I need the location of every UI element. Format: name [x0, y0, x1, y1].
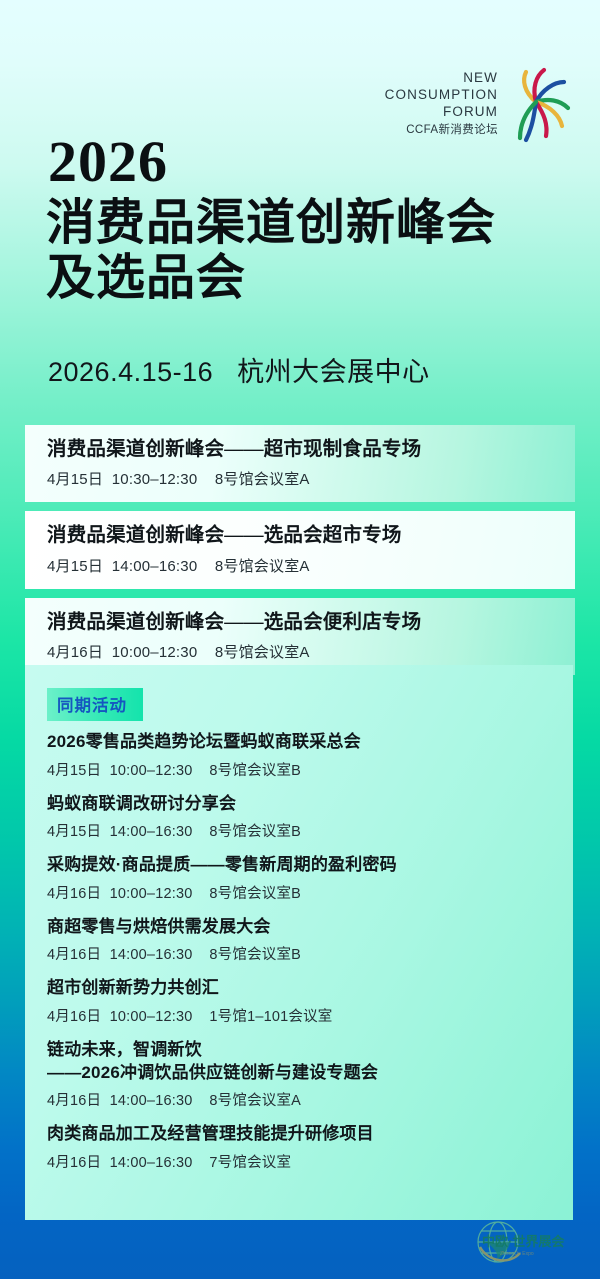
status-badge: 同期活动	[47, 688, 143, 721]
activity-meta: 4月16日 14:00–16:30 7号馆会议室	[47, 1151, 573, 1172]
session-card[interactable]: 消费品渠道创新峰会——选品会超市专场 4月15日 14:00–16:30 8号馆…	[25, 511, 575, 588]
activity-meta: 4月15日 10:00–12:30 8号馆会议室B	[47, 759, 573, 780]
activity-meta: 4月16日 10:00–12:30 8号馆会议室B	[47, 882, 573, 903]
session-card[interactable]: 消费品渠道创新峰会——选品会便利店专场 4月16日 10:00–12:30 8号…	[25, 598, 575, 675]
concurrent-activities-panel: 同期活动 2026零售品类趋势论坛暨蚂蚁商联采总会 4月15日 10:00–12…	[25, 665, 573, 1220]
list-item[interactable]: 超市创新新势力共创汇 4月16日 10:00–12:30 1号馆1–101会议室	[47, 977, 573, 1026]
logo-line-new: NEW	[385, 69, 498, 86]
session-title: 消费品渠道创新峰会——选品会便利店专场	[47, 610, 575, 635]
badge-wrap: 同期活动	[47, 688, 143, 721]
activity-title: 超市创新新势力共创汇	[47, 977, 573, 1000]
activity-title: 肉类商品加工及经营管理技能提升研修项目	[47, 1123, 573, 1146]
feature-session-list: 消费品渠道创新峰会——超市现制食品专场 4月15日 10:30–12:30 8号…	[25, 425, 575, 684]
session-meta: 4月15日 14:00–16:30 8号馆会议室A	[47, 555, 575, 576]
ccfa-flower-logo-icon	[506, 62, 578, 144]
session-card[interactable]: 消费品渠道创新峰会——超市现制食品专场 4月15日 10:30–12:30 8号…	[25, 425, 575, 502]
activity-title-line-2: ——2026冲调饮品供应链创新与建设专题会	[47, 1062, 573, 1085]
list-item[interactable]: 2026零售品类趋势论坛暨蚂蚁商联采总会 4月15日 10:00–12:30 8…	[47, 731, 573, 780]
svg-text:中欧·世界展会: 中欧·世界展会	[482, 1234, 565, 1249]
page-title-line-1: 消费品渠道创新峰会	[46, 196, 496, 251]
session-title: 消费品渠道创新峰会——选品会超市专场	[47, 523, 575, 548]
session-meta: 4月16日 10:00–12:30 8号馆会议室A	[47, 641, 575, 662]
activity-meta: 4月15日 14:00–16:30 8号馆会议室B	[47, 820, 573, 841]
activity-title: 链动未来，智调新饮 ——2026冲调饮品供应链创新与建设专题会	[47, 1039, 573, 1084]
list-item[interactable]: 采购提效·商品提质——零售新周期的盈利密码 4月16日 10:00–12:30 …	[47, 854, 573, 903]
session-meta: 4月15日 10:30–12:30 8号馆会议室A	[47, 468, 575, 489]
poster-root: { "logo": { "line1": "NEW", "line2": "CO…	[0, 0, 600, 1279]
logo-line-forum: FORUM	[385, 103, 498, 120]
page-title: 消费品渠道创新峰会 及选品会	[46, 196, 496, 306]
date-venue-line: 2026.4.15-16 杭州大会展中心	[48, 350, 430, 389]
zhongou-globe-watermark-icon: 中欧·世界展会 ZhongOu Expo	[466, 1217, 578, 1267]
activity-title: 采购提效·商品提质——零售新周期的盈利密码	[47, 854, 573, 877]
logo-line-chinese: CCFA新消费论坛	[385, 123, 498, 138]
logo-wordmark: NEW CONSUMPTION FORUM CCFA新消费论坛	[385, 69, 498, 138]
activity-title-line-1: 链动未来，智调新饮	[47, 1040, 202, 1059]
session-title: 消费品渠道创新峰会——超市现制食品专场	[47, 437, 575, 462]
page-year: 2026	[48, 133, 168, 191]
activity-title: 2026零售品类趋势论坛暨蚂蚁商联采总会	[47, 731, 573, 754]
activity-meta: 4月16日 14:00–16:30 8号馆会议室B	[47, 943, 573, 964]
page-title-line-2: 及选品会	[46, 251, 496, 306]
list-item[interactable]: 商超零售与烘焙供需发展大会 4月16日 14:00–16:30 8号馆会议室B	[47, 916, 573, 965]
list-item[interactable]: 链动未来，智调新饮 ——2026冲调饮品供应链创新与建设专题会 4月16日 14…	[47, 1039, 573, 1110]
activity-meta: 4月16日 10:00–12:30 1号馆1–101会议室	[47, 1005, 573, 1026]
logo-line-consumption: CONSUMPTION	[385, 86, 498, 103]
activity-title: 商超零售与烘焙供需发展大会	[47, 916, 573, 939]
svg-text:ZhongOu Expo: ZhongOu Expo	[500, 1251, 534, 1257]
activity-title: 蚂蚁商联调改研讨分享会	[47, 793, 573, 816]
ccfa-logo: NEW CONSUMPTION FORUM CCFA新消费论坛	[385, 62, 578, 144]
activity-meta: 4月16日 14:00–16:30 8号馆会议室A	[47, 1089, 573, 1110]
list-item[interactable]: 肉类商品加工及经营管理技能提升研修项目 4月16日 14:00–16:30 7号…	[47, 1123, 573, 1172]
list-item[interactable]: 蚂蚁商联调改研讨分享会 4月15日 14:00–16:30 8号馆会议室B	[47, 793, 573, 842]
